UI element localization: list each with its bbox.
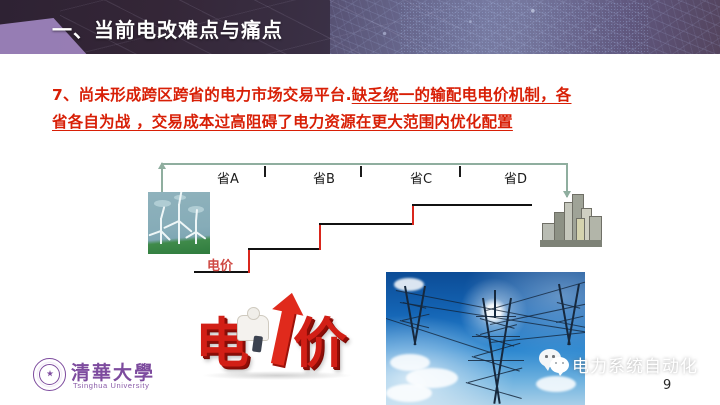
header-dot-grid [400, 2, 650, 52]
transmission-tower-photo [386, 272, 585, 405]
flow-axis-line [163, 163, 568, 165]
logo-english-name: Tsinghua University [73, 381, 149, 390]
city-buildings-icon [538, 190, 606, 252]
headline-text: 7、尚未形成跨区跨省的电力市场交易平台.缺乏统一的输配电电价机制，各 省各自为战… [52, 82, 672, 136]
slide-header: 一、当前电改难点与痛点 [0, 0, 720, 54]
watermark-text: 电力系统自动化 [572, 352, 698, 377]
province-label-c: 省C [410, 168, 432, 187]
logo-star-icon [47, 370, 54, 377]
slide-root: 一、当前电改难点与痛点 7、尚未形成跨区跨省的电力市场交易平台.缺乏统一的输配电… [0, 0, 720, 405]
headline-line1-plain: 7、尚未形成跨区跨省的电力市场交易平台. [52, 86, 352, 104]
logo-seal-icon [33, 358, 66, 391]
page-title: 一、当前电改难点与痛点 [52, 14, 283, 43]
headline-line1-underlined: 缺乏统一的输配电电价机制，各 [352, 86, 572, 104]
price-axis-label: 电价 [207, 255, 233, 274]
province-label-d: 省D [504, 168, 527, 187]
headline-line2: 省各自为战 ，交易成本过高阻碍了电力资源在更大范围内优化配置 [52, 113, 513, 131]
step-riser-cd [412, 205, 414, 225]
axis-tick [459, 166, 461, 177]
province-label-a: 省A [217, 168, 239, 187]
wechat-bubble-small [550, 357, 569, 373]
person-head-icon [247, 307, 260, 320]
step-segment-b [248, 248, 320, 250]
step-riser-bc [319, 224, 321, 250]
step-segment-c [319, 223, 414, 225]
wind-turbine-icon [148, 192, 210, 254]
step-segment-d [412, 204, 532, 206]
axis-tick [360, 166, 362, 177]
tsinghua-logo: 清華大學 Tsinghua University [33, 357, 178, 393]
axis-tick [264, 166, 266, 177]
person-leg-icon [252, 335, 263, 352]
wechat-icon [539, 349, 570, 375]
page-number: 9 [663, 378, 671, 393]
electricity-price-artwork: 电 价 [195, 303, 360, 383]
province-label-b: 省B [313, 168, 335, 187]
step-riser-ab [248, 249, 250, 273]
artwork-char-jia: 价 [293, 317, 347, 371]
